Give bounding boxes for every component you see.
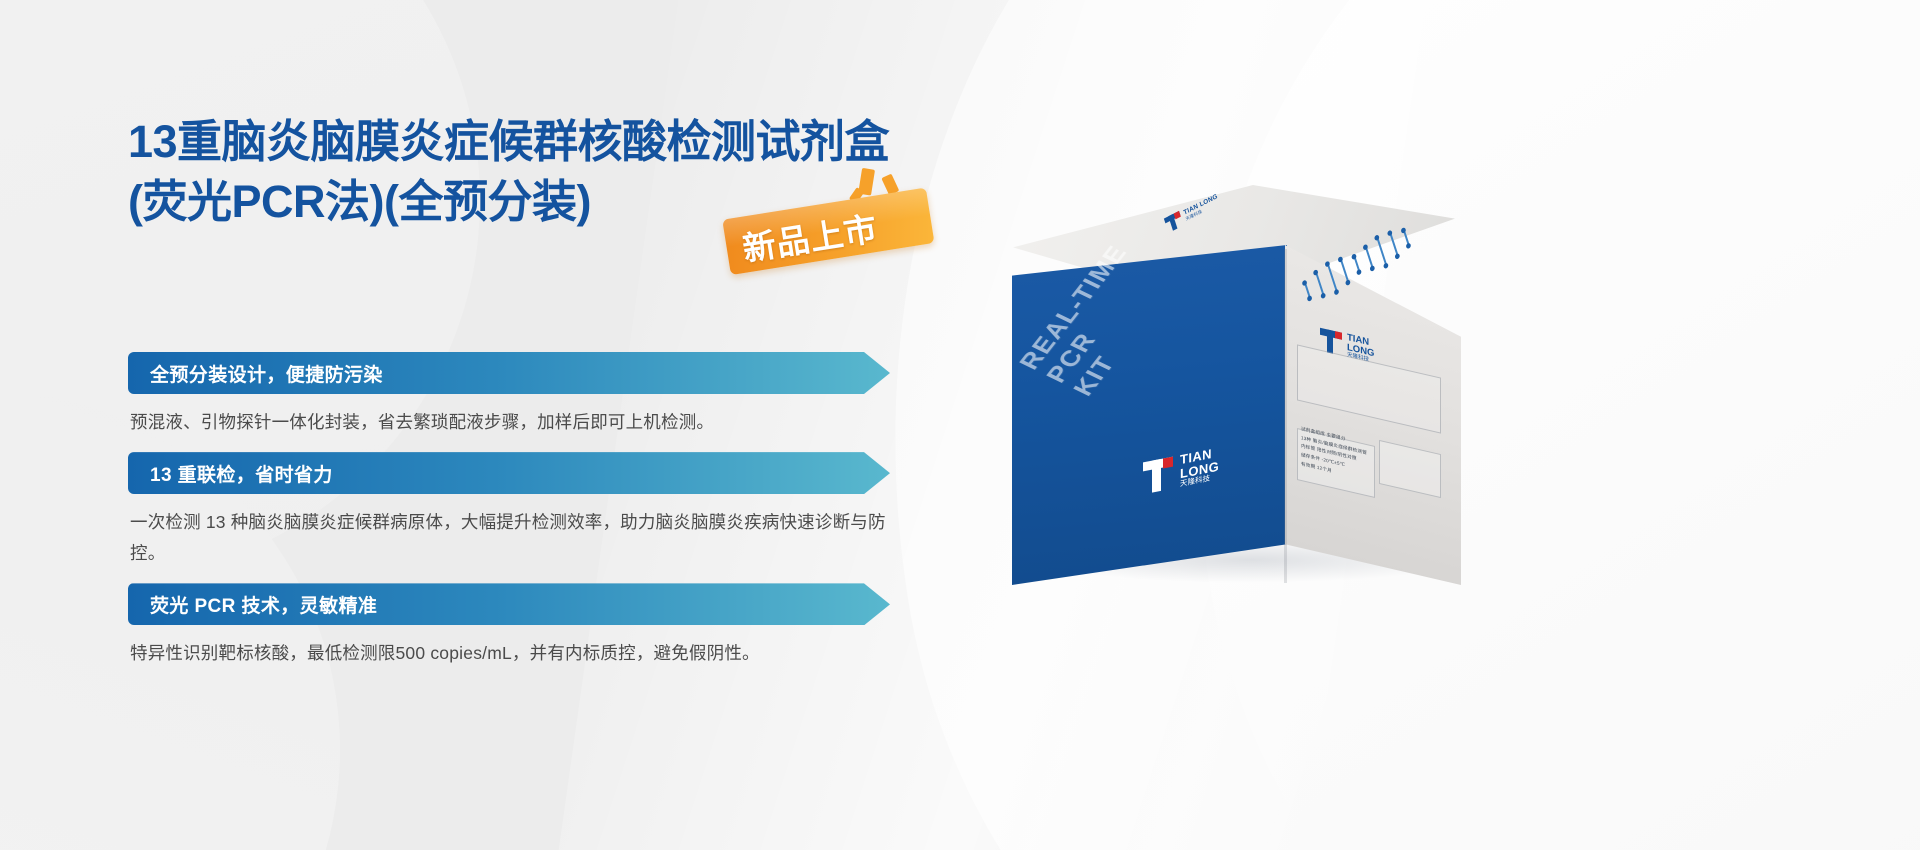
feature-description: 特异性识别靶标核酸，最低检测限500 copies/mL，并有内标质控，避免假阴…	[130, 638, 920, 669]
tianlong-logo-icon	[1143, 456, 1173, 494]
feature-title: 13 重联检，省时省力	[150, 460, 333, 487]
product-promo-banner: 13重脑炎脑膜炎症候群核酸检测试剂盒 (荧光PCR法)(全预分装) 新品上市 全…	[0, 0, 1920, 850]
feature-list: 全预分装设计，便捷防污染 预混液、引物探针一体化封装，省去繁琐配液步骤，加样后即…	[128, 352, 1088, 670]
feature-item: 全预分装设计，便捷防污染 预混液、引物探针一体化封装，省去繁琐配液步骤，加样后即…	[128, 352, 1088, 438]
feature-title: 全预分装设计，便捷防污染	[150, 360, 383, 387]
badge-label: 新品上市	[739, 202, 881, 271]
feature-item: 荧光 PCR 技术，灵敏精准 特异性识别靶标核酸，最低检测限500 copies…	[128, 583, 1088, 669]
feature-item: 13 重联检，省时省力 一次检测 13 种脑炎脑膜炎症候群病原体，大幅提升检测效…	[128, 452, 1088, 569]
feature-description: 预混液、引物探针一体化封装，省去繁琐配液步骤，加样后即可上机检测。	[130, 407, 920, 438]
feature-bar: 13 重联检，省时省力	[128, 452, 890, 494]
product-box-image: TIAN LONG 天隆科技 REAL-	[975, 185, 1535, 615]
feature-description: 一次检测 13 种脑炎脑膜炎症候群病原体，大幅提升检测效率，助力脑炎脑膜炎疾病快…	[130, 507, 920, 569]
box-edge	[1284, 249, 1287, 583]
feature-bar: 荧光 PCR 技术，灵敏精准	[128, 583, 890, 625]
feature-bar: 全预分装设计，便捷防污染	[128, 352, 890, 394]
feature-title: 荧光 PCR 技术，灵敏精准	[150, 591, 377, 618]
